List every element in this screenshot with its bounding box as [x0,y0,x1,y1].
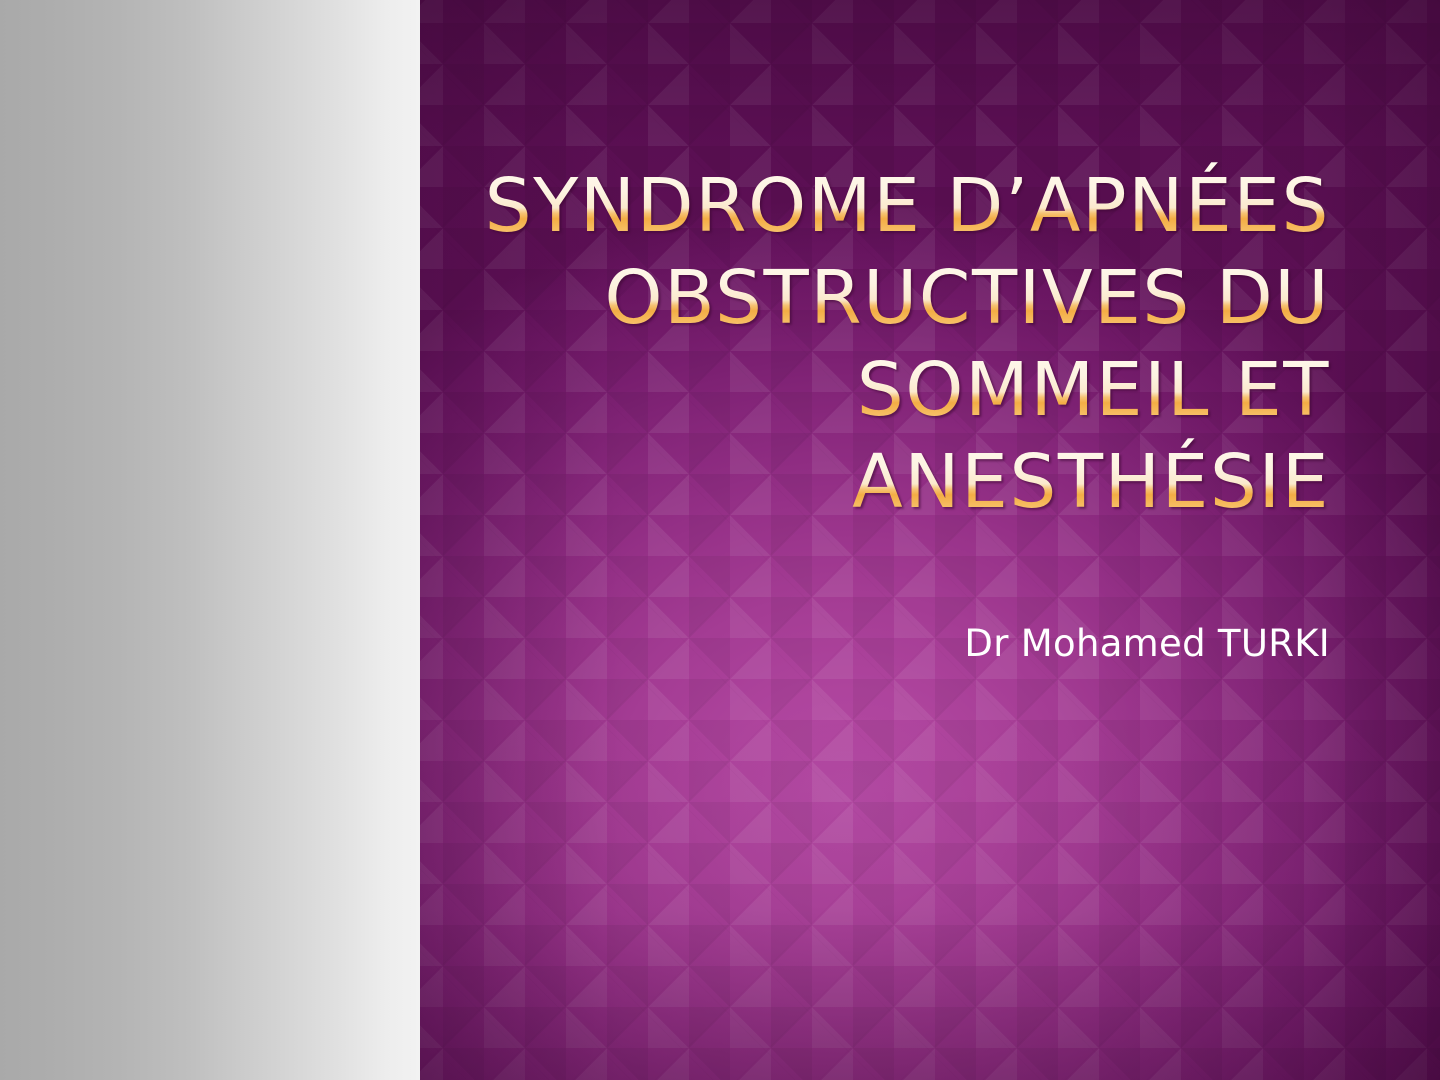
title-line-3: SOMMEIL ET [60,344,1330,436]
presenter-name: Dr Mohamed TURKI [964,622,1330,665]
title-slide: SYNDROME D’APNÉES OBSTRUCTIVES DU SOMMEI… [0,0,1440,1080]
title-line-1: SYNDROME D’APNÉES [60,160,1330,252]
slide-subtitle: Dr Mohamed TURKI [60,622,1330,665]
title-line-2: OBSTRUCTIVES DU [60,252,1330,344]
title-line-4: ANESTHÉSIE [60,436,1330,528]
slide-title: SYNDROME D’APNÉES OBSTRUCTIVES DU SOMMEI… [60,160,1330,528]
